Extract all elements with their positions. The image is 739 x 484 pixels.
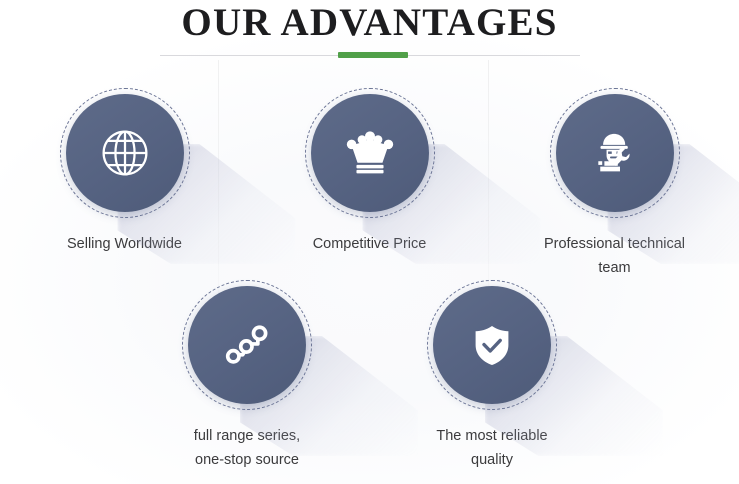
- section-header: OUR ADVANTAGES: [0, 0, 739, 60]
- network-nodes-icon: [221, 319, 273, 371]
- badge-circle: [311, 94, 429, 212]
- card-label-line1: The most reliable: [385, 424, 600, 448]
- card-label-line1: Competitive Price: [262, 232, 477, 256]
- crown-icon: [344, 127, 396, 179]
- card-label-line2: one-stop source: [140, 448, 355, 472]
- card-label-line2: team: [507, 256, 722, 280]
- badge-circle: [556, 94, 674, 212]
- badge: [427, 280, 557, 410]
- page-title: OUR ADVANTAGES: [0, 0, 739, 45]
- advantage-card-professional-team[interactable]: Professional technical team: [492, 88, 737, 280]
- card-label-line2: quality: [385, 448, 600, 472]
- advantages-row-top: Selling Worldwide: [0, 88, 739, 280]
- advantages-section: OUR ADVANTAGES: [0, 0, 739, 484]
- badge-circle: [66, 94, 184, 212]
- badge: [550, 88, 680, 218]
- badge-circle: [188, 286, 306, 404]
- advantage-card-competitive-price[interactable]: Competitive Price: [247, 88, 492, 280]
- badge-circle: [433, 286, 551, 404]
- shield-check-icon: [468, 321, 516, 369]
- advantages-row-bottom: full range series, one-stop source: [0, 280, 739, 472]
- badge: [182, 280, 312, 410]
- badge: [60, 88, 190, 218]
- card-label-line1: full range series,: [140, 424, 355, 448]
- card-label: Professional technical team: [507, 232, 722, 280]
- technician-icon: [589, 127, 641, 179]
- card-label: The most reliable quality: [385, 424, 600, 472]
- divider-accent-bar: [338, 52, 408, 58]
- card-label-line1: Professional technical: [507, 232, 722, 256]
- card-label-line1: Selling Worldwide: [17, 232, 232, 256]
- card-label: full range series, one-stop source: [140, 424, 355, 472]
- badge: [305, 88, 435, 218]
- card-label: Selling Worldwide: [17, 232, 232, 256]
- title-divider: [160, 50, 580, 60]
- card-label: Competitive Price: [262, 232, 477, 256]
- globe-icon: [98, 126, 152, 180]
- advantage-card-full-range-series[interactable]: full range series, one-stop source: [125, 280, 370, 472]
- advantage-card-selling-worldwide[interactable]: Selling Worldwide: [2, 88, 247, 280]
- advantage-card-most-reliable-quality[interactable]: The most reliable quality: [370, 280, 615, 472]
